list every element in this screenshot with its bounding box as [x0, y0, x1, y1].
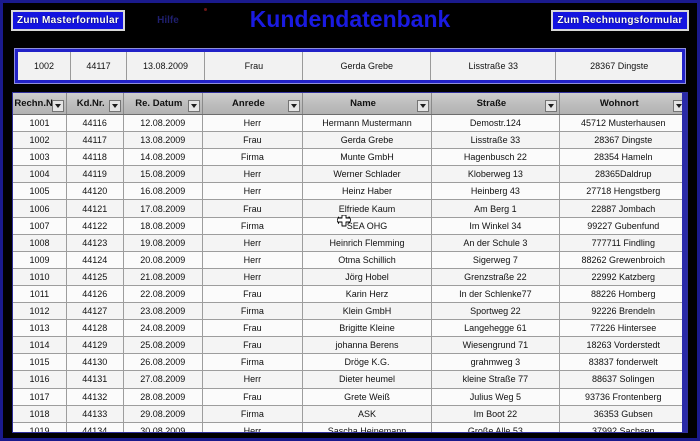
cell-strasse[interactable]: Am Berg 1	[432, 200, 559, 216]
cell-datum[interactable]: 18.08.2009	[124, 218, 204, 234]
cell-kundennummer[interactable]: 44132	[67, 389, 124, 405]
cell-wohnort[interactable]: 88262 Grewenbroich	[560, 252, 687, 268]
cell-kundennummer[interactable]: 44125	[67, 269, 124, 285]
cell-kundennummer[interactable]: 44133	[67, 406, 124, 422]
table-row[interactable]: 10184413329.08.2009FirmaASKIm Boot 22363…	[13, 406, 687, 423]
cell-name[interactable]: Heinrich Flemming	[303, 235, 432, 251]
customer-data-grid: Rechn.Nr Kd.Nr. Re. Datum Anrede Name St…	[12, 92, 688, 433]
cell-rechnungsnummer[interactable]: 1019	[13, 423, 67, 433]
cell-kundennummer[interactable]: 44116	[67, 115, 124, 131]
filter-dropdown-icon[interactable]	[417, 100, 429, 112]
cell-datum[interactable]: 14.08.2009	[124, 149, 204, 165]
cell-kundennummer[interactable]: 44126	[67, 286, 124, 302]
cell-rechnungsnummer[interactable]: 1007	[13, 218, 67, 234]
table-row[interactable]: 10124412723.08.2009FirmaKlein GmbHSportw…	[13, 303, 687, 320]
cell-strasse[interactable]: kleine Straße 77	[432, 371, 559, 387]
cell-name[interactable]: Brigitte Kleine	[303, 320, 432, 336]
current-record-panel: 1002 44117 13.08.2009 Frau Gerda Grebe L…	[14, 48, 686, 84]
filter-dropdown-icon[interactable]	[52, 100, 64, 112]
cell-strasse[interactable]: Demostr.124	[432, 115, 559, 131]
cell-anrede[interactable]: Herr	[203, 115, 303, 131]
cell-datum[interactable]: 28.08.2009	[124, 389, 204, 405]
cell-rechnungsnummer[interactable]: 1016	[13, 371, 67, 387]
cell-name[interactable]: Gerda Grebe	[303, 132, 432, 148]
cell-anrede[interactable]: Firma	[203, 218, 303, 234]
cell-kundennummer[interactable]: 44127	[67, 303, 124, 319]
table-row[interactable]: 10084412319.08.2009HerrHeinrich Flemming…	[13, 235, 687, 252]
detail-datum[interactable]: 13.08.2009	[127, 52, 205, 80]
cell-rechnungsnummer[interactable]: 1018	[13, 406, 67, 422]
cell-datum[interactable]: 13.08.2009	[124, 132, 204, 148]
table-row[interactable]: 10034411814.08.2009FirmaMunte GmbHHagenb…	[13, 149, 687, 166]
cell-datum[interactable]: 23.08.2009	[124, 303, 204, 319]
column-header-label: Re. Datum	[135, 98, 190, 109]
cell-rechnungsnummer[interactable]: 1001	[13, 115, 67, 131]
column-header-label: Wohnort	[600, 98, 647, 109]
decorative-speck	[204, 8, 207, 11]
cell-datum[interactable]: 24.08.2009	[124, 320, 204, 336]
cell-kundennummer[interactable]: 44128	[67, 320, 124, 336]
cell-kundennummer[interactable]: 44134	[67, 423, 124, 433]
table-row[interactable]: 10024411713.08.2009FrauGerda GrebeLisstr…	[13, 132, 687, 149]
cell-wohnort[interactable]: 45712 Musterhausen	[560, 115, 687, 131]
cell-wohnort[interactable]: 27718 Hengstberg	[560, 183, 687, 199]
cell-anrede[interactable]: Frau	[203, 200, 303, 216]
cell-anrede[interactable]: Herr	[203, 235, 303, 251]
cell-datum[interactable]: 21.08.2009	[124, 269, 204, 285]
filter-dropdown-icon[interactable]	[288, 100, 300, 112]
column-header-name[interactable]: Name	[303, 93, 432, 114]
cell-datum[interactable]: 20.08.2009	[124, 252, 204, 268]
cell-wohnort[interactable]: 22887 Jombach	[560, 200, 687, 216]
detail-rechnungsnummer[interactable]: 1002	[18, 52, 71, 80]
column-header-kundennummer[interactable]: Kd.Nr.	[67, 93, 124, 114]
cell-wohnort[interactable]: 92226 Brendeln	[560, 303, 687, 319]
cell-datum[interactable]: 25.08.2009	[124, 337, 204, 353]
cell-wohnort[interactable]: 28367 Dingste	[560, 132, 687, 148]
table-row[interactable]: 10154413026.08.2009FirmaDröge K.G.grahmw…	[13, 354, 687, 371]
cell-anrede[interactable]: Frau	[203, 320, 303, 336]
cell-anrede[interactable]: Frau	[203, 389, 303, 405]
cell-wohnort[interactable]: 777711 Findling	[560, 235, 687, 251]
cell-anrede[interactable]: Frau	[203, 286, 303, 302]
cell-kundennummer[interactable]: 44124	[67, 252, 124, 268]
cell-datum[interactable]: 12.08.2009	[124, 115, 204, 131]
filter-dropdown-icon[interactable]	[109, 100, 121, 112]
cell-anrede[interactable]: Frau	[203, 132, 303, 148]
cell-datum[interactable]: 16.08.2009	[124, 183, 204, 199]
cell-wohnort[interactable]: 22992 Katzberg	[560, 269, 687, 285]
cell-name[interactable]: Grete Weiß	[303, 389, 432, 405]
column-header-label: Anrede	[232, 98, 273, 109]
cell-name[interactable]: Otma Schillich	[303, 252, 432, 268]
cell-anrede[interactable]: Herr	[203, 252, 303, 268]
cell-rechnungsnummer[interactable]: 1010	[13, 269, 67, 285]
cell-anrede[interactable]: Firma	[203, 406, 303, 422]
kundendatenbank-window: Kundendatenbank Zum Masterformular Hilfe…	[0, 0, 700, 441]
cell-rechnungsnummer[interactable]: 1017	[13, 389, 67, 405]
table-row[interactable]: 10044411915.08.2009HerrWerner SchladerKl…	[13, 166, 687, 183]
detail-name[interactable]: Gerda Grebe	[303, 52, 430, 80]
column-header-anrede[interactable]: Anrede	[203, 93, 303, 114]
cell-wohnort[interactable]: 88226 Homberg	[560, 286, 687, 302]
cell-wohnort[interactable]: 88637 Solingen	[560, 371, 687, 387]
cell-rechnungsnummer[interactable]: 1013	[13, 320, 67, 336]
cell-wohnort[interactable]: 37992 Sachsen	[560, 423, 687, 433]
cell-rechnungsnummer[interactable]: 1008	[13, 235, 67, 251]
cell-strasse[interactable]: Hagenbusch 22	[432, 149, 559, 165]
cell-strasse[interactable]: Langehegge 61	[432, 320, 559, 336]
cell-rechnungsnummer[interactable]: 1004	[13, 166, 67, 182]
column-header-rechnungsnummer[interactable]: Rechn.Nr	[13, 93, 67, 114]
column-header-strasse[interactable]: Straße	[432, 93, 559, 114]
cell-wohnort[interactable]: 36353 Gubsen	[560, 406, 687, 422]
table-row[interactable]: 10014411612.08.2009HerrHermann Musterman…	[13, 115, 687, 132]
zum-masterformular-button[interactable]: Zum Masterformular	[11, 10, 125, 31]
current-record-row[interactable]: 1002 44117 13.08.2009 Frau Gerda Grebe L…	[18, 52, 682, 80]
cell-datum[interactable]: 30.08.2009	[124, 423, 204, 433]
detail-anrede[interactable]: Frau	[205, 52, 303, 80]
cell-datum[interactable]: 26.08.2009	[124, 354, 204, 370]
cell-anrede[interactable]: Firma	[203, 354, 303, 370]
cell-strasse[interactable]: Im Winkel 34	[432, 218, 559, 234]
cell-rechnungsnummer[interactable]: 1006	[13, 200, 67, 216]
cell-anrede[interactable]: Herr	[203, 183, 303, 199]
column-header-datum[interactable]: Re. Datum	[124, 93, 204, 114]
cell-datum[interactable]: 22.08.2009	[124, 286, 204, 302]
table-row[interactable]: 10174413228.08.2009FrauGrete WeißJulius …	[13, 389, 687, 406]
cell-strasse[interactable]: Im Boot 22	[432, 406, 559, 422]
cell-rechnungsnummer[interactable]: 1012	[13, 303, 67, 319]
cell-rechnungsnummer[interactable]: 1003	[13, 149, 67, 165]
table-row[interactable]: 10194413430.08.2009HerrSascha HeinemannG…	[13, 423, 687, 433]
cell-strasse[interactable]: Heinberg 43	[432, 183, 559, 199]
cell-wohnort[interactable]: 18263 Vorderstedt	[560, 337, 687, 353]
cell-datum[interactable]: 27.08.2009	[124, 371, 204, 387]
table-row[interactable]: 10144412925.08.2009Fraujohanna BerensWie…	[13, 337, 687, 354]
grid-vertical-scrollbar[interactable]	[682, 93, 687, 432]
cell-kundennummer[interactable]: 44118	[67, 149, 124, 165]
table-row[interactable]: 10054412016.08.2009HerrHeinz HaberHeinbe…	[13, 183, 687, 200]
column-header-label: Kd.Nr.	[77, 98, 113, 109]
cell-wohnort[interactable]: 99227 Gubenfund	[560, 218, 687, 234]
table-row[interactable]: 10094412420.08.2009HerrOtma SchillichSig…	[13, 252, 687, 269]
cell-kundennummer[interactable]: 44131	[67, 371, 124, 387]
cell-name[interactable]: SEA OHG	[303, 218, 432, 234]
cell-anrede[interactable]: Herr	[203, 371, 303, 387]
cell-kundennummer[interactable]: 44121	[67, 200, 124, 216]
cell-wohnort[interactable]: 93736 Frontenberg	[560, 389, 687, 405]
table-row[interactable]: 10074412218.08.2009FirmaSEA OHGIm Winkel…	[13, 218, 687, 235]
cell-wohnort[interactable]: 28354 Hameln	[560, 149, 687, 165]
column-header-label: Straße	[477, 98, 515, 109]
cell-rechnungsnummer[interactable]: 1005	[13, 183, 67, 199]
cell-name[interactable]: johanna Berens	[303, 337, 432, 353]
cell-strasse[interactable]: Lisstraße 33	[432, 132, 559, 148]
cell-anrede[interactable]: Herr	[203, 423, 303, 433]
cell-name[interactable]: ASK	[303, 406, 432, 422]
cell-name[interactable]: Karin Herz	[303, 286, 432, 302]
cell-datum[interactable]: 19.08.2009	[124, 235, 204, 251]
cell-strasse[interactable]: In der Schlenke77	[432, 286, 559, 302]
cell-name[interactable]: Sascha Heinemann	[303, 423, 432, 433]
cell-rechnungsnummer[interactable]: 1009	[13, 252, 67, 268]
cell-rechnungsnummer[interactable]: 1014	[13, 337, 67, 353]
cell-anrede[interactable]: Herr	[203, 269, 303, 285]
cell-rechnungsnummer[interactable]: 1015	[13, 354, 67, 370]
table-row[interactable]: 10134412824.08.2009FrauBrigitte KleineLa…	[13, 320, 687, 337]
column-header-label: Name	[350, 98, 384, 109]
cell-strasse[interactable]: grahmweg 3	[432, 354, 559, 370]
cell-anrede[interactable]: Firma	[203, 149, 303, 165]
cell-kundennummer[interactable]: 44120	[67, 183, 124, 199]
table-row[interactable]: 10164413127.08.2009HerrDieter heumelklei…	[13, 371, 687, 388]
grid-body: 10014411612.08.2009HerrHermann Musterman…	[13, 115, 687, 433]
table-row[interactable]: 10114412622.08.2009FrauKarin HerzIn der …	[13, 286, 687, 303]
cell-kundennummer[interactable]: 44130	[67, 354, 124, 370]
cell-name[interactable]: Heinz Haber	[303, 183, 432, 199]
cell-name[interactable]: Hermann Mustermann	[303, 115, 432, 131]
cell-datum[interactable]: 29.08.2009	[124, 406, 204, 422]
cell-name[interactable]: Munte GmbH	[303, 149, 432, 165]
cell-name[interactable]: Klein GmbH	[303, 303, 432, 319]
cell-strasse[interactable]: Kloberweg 13	[432, 166, 559, 182]
cell-kundennummer[interactable]: 44117	[67, 132, 124, 148]
header-bar: Kundendatenbank Zum Masterformular Hilfe…	[3, 3, 697, 44]
cell-kundennummer[interactable]: 44122	[67, 218, 124, 234]
filter-dropdown-icon[interactable]	[188, 100, 200, 112]
detail-strasse[interactable]: Lisstraße 33	[431, 52, 556, 80]
cell-rechnungsnummer[interactable]: 1002	[13, 132, 67, 148]
cell-datum[interactable]: 15.08.2009	[124, 166, 204, 182]
cell-datum[interactable]: 17.08.2009	[124, 200, 204, 216]
cell-name[interactable]: Elfriede Kaum	[303, 200, 432, 216]
cell-anrede[interactable]: Frau	[203, 337, 303, 353]
cell-strasse[interactable]: Sigerweg 7	[432, 252, 559, 268]
cell-wohnort[interactable]: 28365Daldrup	[560, 166, 687, 182]
cell-kundennummer[interactable]: 44129	[67, 337, 124, 353]
cell-anrede[interactable]: Herr	[203, 166, 303, 182]
cell-strasse[interactable]: Julius Weg 5	[432, 389, 559, 405]
cell-strasse[interactable]: Sportweg 22	[432, 303, 559, 319]
cell-name[interactable]: Jörg Hobel	[303, 269, 432, 285]
cell-anrede[interactable]: Firma	[203, 303, 303, 319]
cell-strasse[interactable]: Wiesengrund 71	[432, 337, 559, 353]
cell-strasse[interactable]: An der Schule 3	[432, 235, 559, 251]
cell-rechnungsnummer[interactable]: 1011	[13, 286, 67, 302]
hilfe-link[interactable]: Hilfe	[146, 15, 190, 26]
table-row[interactable]: 10104412521.08.2009HerrJörg HobelGrenzst…	[13, 269, 687, 286]
column-header-wohnort[interactable]: Wohnort	[560, 93, 687, 114]
cell-wohnort[interactable]: 83837 fonderwelt	[560, 354, 687, 370]
cell-name[interactable]: Werner Schlader	[303, 166, 432, 182]
zum-rechnungsformular-button[interactable]: Zum Rechnungsformular	[551, 10, 689, 31]
grid-header-row: Rechn.Nr Kd.Nr. Re. Datum Anrede Name St…	[13, 93, 687, 115]
table-row[interactable]: 10064412117.08.2009FrauElfriede KaumAm B…	[13, 200, 687, 217]
cell-name[interactable]: Dröge K.G.	[303, 354, 432, 370]
detail-wohnort[interactable]: 28367 Dingste	[556, 52, 681, 80]
filter-dropdown-icon[interactable]	[545, 100, 557, 112]
cell-kundennummer[interactable]: 44119	[67, 166, 124, 182]
cell-kundennummer[interactable]: 44123	[67, 235, 124, 251]
cell-wohnort[interactable]: 77226 Hintersee	[560, 320, 687, 336]
cell-name[interactable]: Dieter heumel	[303, 371, 432, 387]
detail-kundennummer[interactable]: 44117	[71, 52, 127, 80]
cell-strasse[interactable]: Grenzstraße 22	[432, 269, 559, 285]
cell-strasse[interactable]: Große Alle 53	[432, 423, 559, 433]
